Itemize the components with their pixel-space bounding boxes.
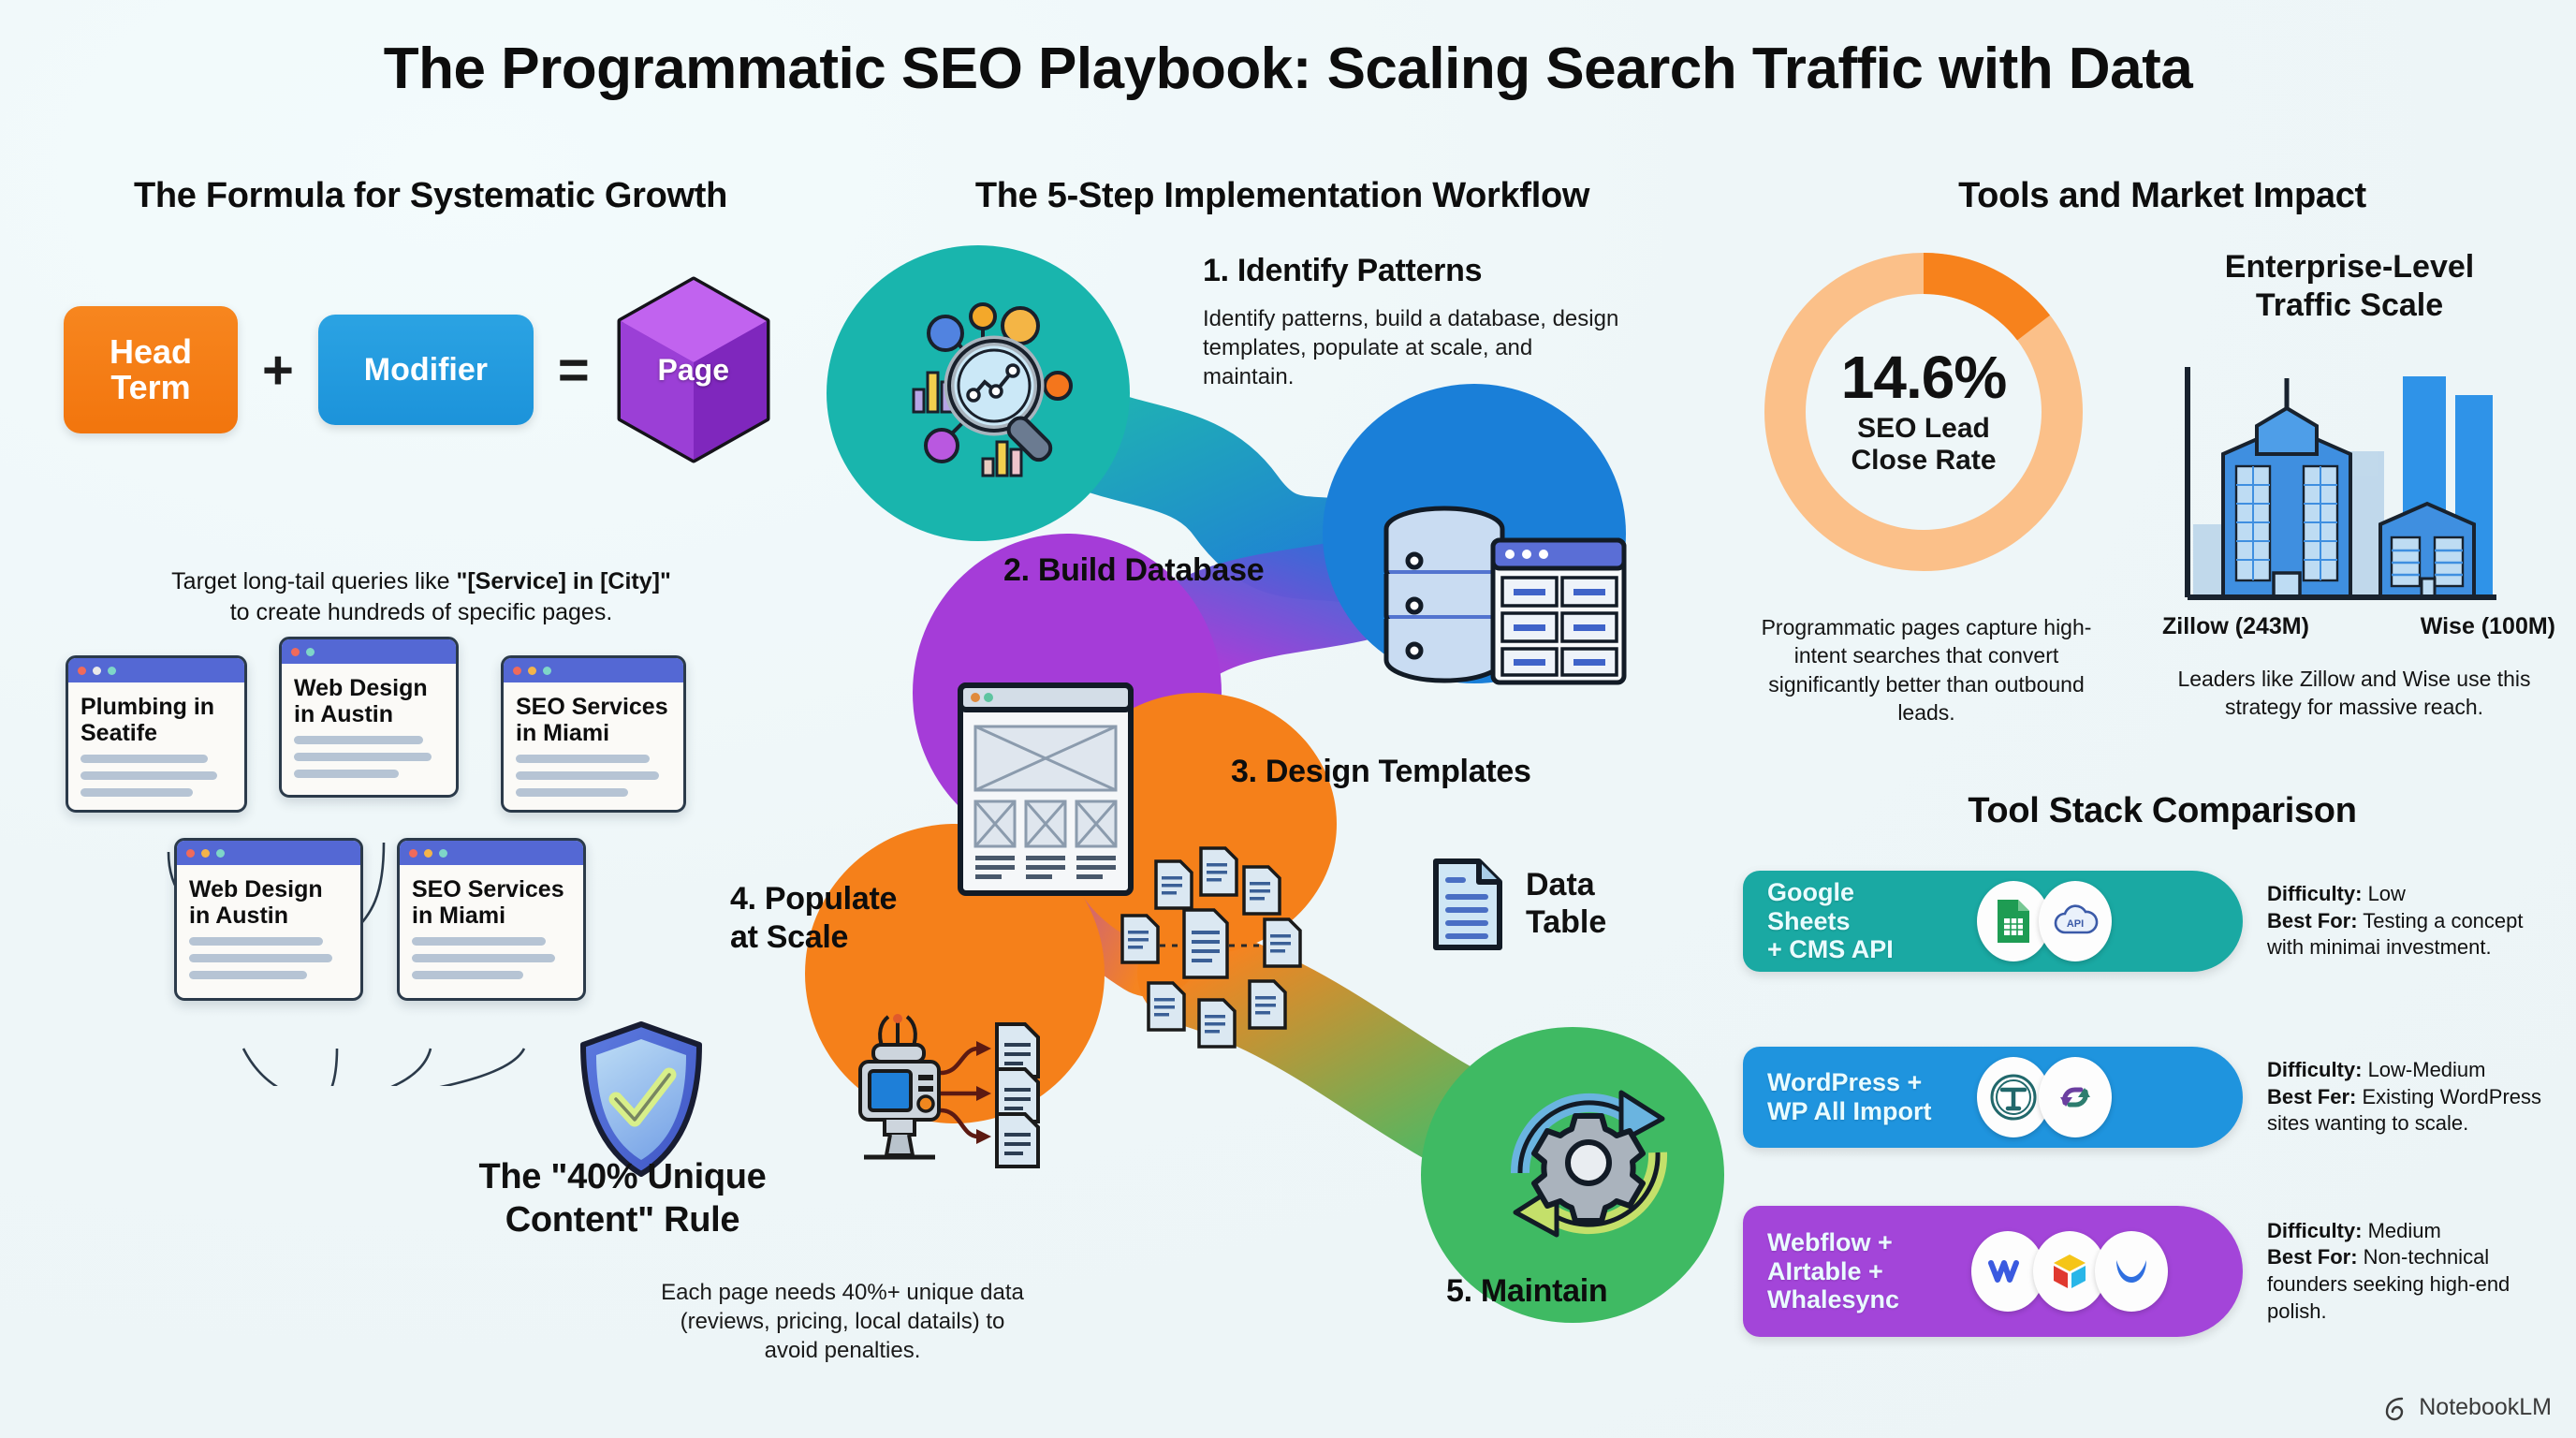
browser-titlebar <box>400 841 583 865</box>
window-minimize-dot <box>93 667 101 675</box>
window-minimize-dot <box>201 849 210 858</box>
tool-name-line1: WordPress + <box>1767 1068 1960 1097</box>
placeholder-line <box>516 771 659 780</box>
placeholder-line <box>516 788 628 797</box>
traffic-bar-labels: Zillow (243M) Wise (100M) <box>2162 613 2555 640</box>
data-table-label: Data Table <box>1526 866 1606 941</box>
head-term-box: Head Term <box>64 306 238 433</box>
tool-name-2: WordPress + WP All Import <box>1767 1068 1960 1126</box>
document-cluster-icon <box>1090 843 1315 1081</box>
longtail-caption-line1-plain: Target long-tail queries like <box>171 568 456 594</box>
tool-name-line1: Google <box>1767 878 1960 907</box>
page-card-title-line1: Web Design <box>189 876 348 902</box>
page-card-3[interactable]: SEO Services in Miami <box>501 655 686 813</box>
step-2-title: 2. Build Database <box>1003 552 1264 589</box>
tool-logos-1: API <box>1977 881 2112 961</box>
window-close-dot <box>513 667 521 675</box>
browser-titlebar <box>68 658 244 682</box>
step-5-title: 5. Maintain <box>1446 1273 1607 1310</box>
tool-desc-1: Difficulty: Low Best For: Testing a conc… <box>2267 881 2557 961</box>
gear-refresh-icon <box>1488 1063 1690 1269</box>
traffic-caption: Leaders like Zillow and Wise use this st… <box>2153 665 2555 722</box>
page-card-title-line2: in Miami <box>516 720 671 746</box>
window-minimize-dot <box>424 849 432 858</box>
page-card-title-line1: Web Design <box>294 675 444 701</box>
tool-name-line3: + CMS API <box>1767 935 1960 964</box>
placeholder-line <box>189 954 332 962</box>
difficulty-value-2: Low-Medium <box>2362 1058 2485 1081</box>
unique-content-rule-title: The "40% Unique Content" Rule <box>426 1156 819 1241</box>
tool-desc-3: Difficulty: Medium Best For: Non-technic… <box>2267 1218 2557 1325</box>
window-close-dot <box>409 849 417 858</box>
traffic-bar-chart <box>2167 337 2523 613</box>
tool-name-3: Webflow + AIrtable + Whalesync <box>1767 1228 1960 1314</box>
step-4-title-line2: at Scale <box>730 918 897 957</box>
window-close-dot <box>78 667 86 675</box>
tool-name-line1: Webflow + <box>1767 1228 1960 1257</box>
page-card-title-line1: SEO Services <box>412 876 571 902</box>
page-card-body: Web Design in Austin <box>282 664 456 791</box>
page-card-title-line2: in Austin <box>294 701 444 727</box>
placeholder-line <box>412 971 523 979</box>
placeholder-line <box>294 770 399 778</box>
tool-pill-1: Google Sheets + CMS API API <box>1743 871 2243 972</box>
data-table-label-line1: Data <box>1526 866 1606 903</box>
page-cube-label: Page <box>614 276 773 463</box>
notebooklm-label: NotebookLM <box>2419 1394 2552 1421</box>
tool-stack-row-3[interactable]: Webflow + AIrtable + Whalesync <box>1743 1206 2557 1337</box>
window-close-dot <box>186 849 195 858</box>
modifier-box: Modifier <box>318 315 534 425</box>
donut-label-line2: Close Rate <box>1851 445 1996 477</box>
placeholder-line <box>294 753 432 761</box>
page-card-title-line1: Plumbing in <box>80 694 232 720</box>
data-table-label-line2: Table <box>1526 903 1606 941</box>
placeholder-line <box>412 954 555 962</box>
window-maximize-dot <box>306 648 315 656</box>
rule-title-line2: Content" Rule <box>426 1199 819 1242</box>
step-3-title: 3. Design Templates <box>1231 754 1531 790</box>
tool-name-line2: WP All Import <box>1767 1097 1960 1126</box>
step-1-description: Identify patterns, build a database, des… <box>1203 304 1624 392</box>
database-stack-icon <box>1362 492 1633 702</box>
placeholder-line <box>516 755 650 763</box>
placeholder-line <box>294 736 423 744</box>
window-maximize-dot <box>439 849 447 858</box>
magnifier-analytics-icon <box>880 281 1086 492</box>
donut-label-line1: SEO Lead <box>1851 413 1996 445</box>
notebooklm-logo-icon <box>2383 1395 2409 1421</box>
bestfor-label-2: Best Fer: <box>2267 1085 2356 1108</box>
rule-title-line1: The "40% Unique <box>426 1156 819 1199</box>
left-section-heading: The Formula for Systematic Growth <box>56 176 805 216</box>
formula-row: Head Term + Modifier = Page <box>64 276 831 463</box>
step-1-title: 1. Identify Patterns <box>1203 253 1482 289</box>
donut-caption: Programmatic pages capture high-intent s… <box>1749 613 2104 726</box>
window-close-dot <box>291 648 300 656</box>
head-term-label-line2: Term <box>110 370 192 405</box>
tool-logos-2 <box>1977 1057 2112 1137</box>
difficulty-label-2: Difficulty: <box>2267 1058 2362 1081</box>
traffic-title-line1: Enterprise-Level <box>2153 248 2546 286</box>
page-card-2[interactable]: Web Design in Austin <box>279 637 459 798</box>
placeholder-line <box>189 937 323 946</box>
bestfor-label-1: Best For: <box>2267 909 2358 932</box>
page-card-1[interactable]: Plumbing in Seatife <box>66 655 247 813</box>
bestfor-label-3: Best For: <box>2267 1245 2358 1269</box>
donut-center-text: 14.6% SEO Lead Close Rate <box>1750 239 2097 585</box>
browser-titlebar <box>282 639 456 664</box>
machine-documents-icon <box>847 1011 1062 1194</box>
tool-name-line2: AIrtable + <box>1767 1257 1960 1286</box>
traffic-bar-label-zillow: Zillow (243M) <box>2162 613 2309 640</box>
traffic-bar-label-wise: Wise (100M) <box>2421 613 2555 640</box>
placeholder-line <box>80 771 217 780</box>
data-table-icon <box>1430 857 1505 957</box>
page-card-title-line2: in Miami <box>412 902 571 929</box>
tool-stack-row-2[interactable]: WordPress + WP All Import <box>1743 1047 2557 1148</box>
tool-name-1: Google Sheets + CMS API <box>1767 878 1960 964</box>
traffic-scale-title: Enterprise-Level Traffic Scale <box>2153 248 2546 325</box>
seo-close-rate-donut: 14.6% SEO Lead Close Rate <box>1750 239 2097 585</box>
notebooklm-watermark: NotebookLM <box>2383 1394 2552 1421</box>
page-card-body: SEO Services in Miami <box>400 865 583 992</box>
longtail-caption: Target long-tail queries like "[Service]… <box>103 566 739 627</box>
page-card-title-line2: in Austin <box>189 902 348 929</box>
tool-name-line2: Sheets <box>1767 907 1960 936</box>
placeholder-line <box>80 755 208 763</box>
difficulty-label-1: Difficulty: <box>2267 882 2362 905</box>
cloud-api-icon: API <box>2039 881 2112 961</box>
svg-text:API: API <box>2067 918 2084 930</box>
page-card-4[interactable]: Web Design in Austin <box>174 838 363 1001</box>
donut-value: 14.6% <box>1841 347 2006 407</box>
window-maximize-dot <box>543 667 551 675</box>
middle-section-heading: The 5-Step Implementation Workflow <box>871 176 1694 216</box>
window-maximize-dot <box>108 667 116 675</box>
plus-operator: + <box>262 339 294 402</box>
page-card-title-line2: Seatife <box>80 720 232 746</box>
placeholder-line <box>189 971 307 979</box>
browser-titlebar <box>177 841 360 865</box>
tool-stack-row-1[interactable]: Google Sheets + CMS API API <box>1743 871 2557 972</box>
step-4-title-line1: 4. Populate <box>730 880 897 918</box>
placeholder-line <box>412 937 546 946</box>
page-card-body: Plumbing in Seatife <box>68 682 244 810</box>
whalesync-icon <box>2095 1231 2168 1312</box>
tool-stack-heading: Tool Stack Comparison <box>1778 791 2546 831</box>
difficulty-label-3: Difficulty: <box>2267 1219 2362 1242</box>
head-term-label-line1: Head <box>110 334 192 370</box>
tool-logos-3 <box>1971 1231 2168 1312</box>
sync-arrows-icon <box>2039 1057 2112 1137</box>
window-minimize-dot <box>528 667 536 675</box>
window-maximize-dot <box>216 849 225 858</box>
right-section-heading: Tools and Market Impact <box>1788 176 2537 216</box>
tool-desc-2: Difficulty: Low-Medium Best Fer: Existin… <box>2267 1057 2557 1137</box>
tool-name-line3: Whalesync <box>1767 1285 1960 1314</box>
tool-pill-3: Webflow + AIrtable + Whalesync <box>1743 1206 2243 1337</box>
difficulty-value-1: Low <box>2362 882 2405 905</box>
equals-operator: = <box>558 339 590 402</box>
traffic-title-line2: Traffic Scale <box>2153 286 2546 325</box>
page-card-5[interactable]: SEO Services in Miami <box>397 838 586 1001</box>
page-title: The Programmatic SEO Playbook: Scaling S… <box>0 36 2576 102</box>
page-cube-icon: Page <box>614 276 773 463</box>
page-card-title-line1: SEO Services <box>516 694 671 720</box>
infographic-canvas: The Programmatic SEO Playbook: Scaling S… <box>0 0 2576 1438</box>
page-card-body: SEO Services in Miami <box>504 682 683 810</box>
longtail-caption-line1-bold: "[Service] in [City]" <box>457 568 671 594</box>
difficulty-value-3: Medium <box>2362 1219 2440 1242</box>
browser-titlebar <box>504 658 683 682</box>
step-4-title: 4. Populate at Scale <box>730 880 897 957</box>
tool-pill-2: WordPress + WP All Import <box>1743 1047 2243 1148</box>
longtail-caption-line2: to create hundreds of specific pages. <box>230 599 613 625</box>
page-card-body: Web Design in Austin <box>177 865 360 992</box>
placeholder-line <box>80 788 193 797</box>
